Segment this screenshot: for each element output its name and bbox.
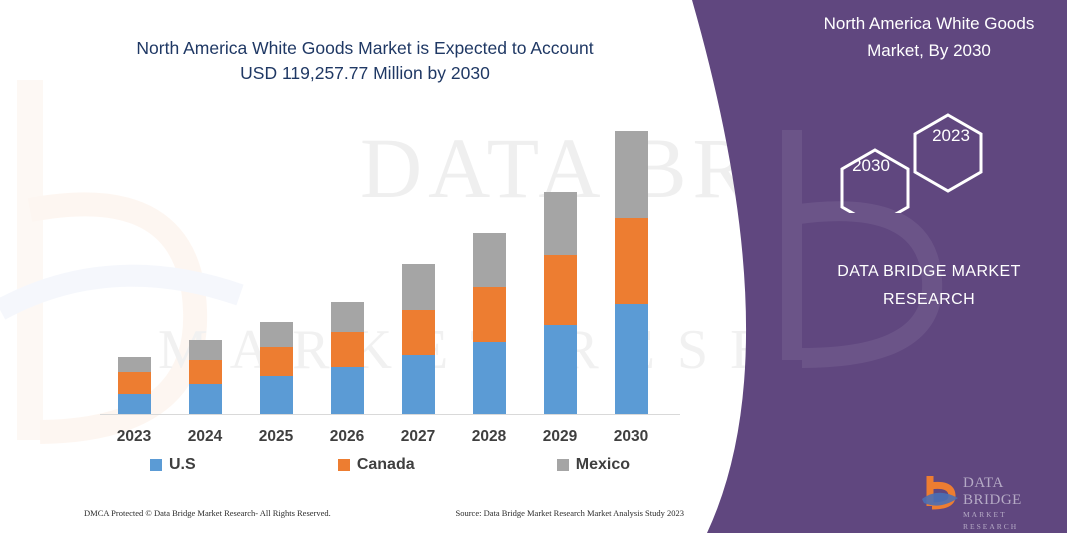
bar-2030 <box>615 131 648 414</box>
bar-2028 <box>473 233 506 414</box>
footer: DMCA Protected © Data Bridge Market Rese… <box>84 508 684 518</box>
bar-segment-mexico-2028 <box>473 233 506 287</box>
x-axis-line <box>100 414 680 415</box>
bar-segment-canada-2024 <box>189 360 222 384</box>
bar-2027 <box>402 264 435 414</box>
bar-segment-mexico-2025 <box>260 322 293 347</box>
bar-segment-mexico-2030 <box>615 131 648 218</box>
bar-2025 <box>260 322 293 414</box>
x-axis-tick-2025: 2025 <box>246 428 306 446</box>
x-axis-tick-2023: 2023 <box>104 428 164 446</box>
x-axis-tick-2027: 2027 <box>388 428 448 446</box>
x-axis-labels: 20232024202520262027202820292030 <box>100 428 680 454</box>
bar-segment-us-2029 <box>544 325 577 414</box>
legend-item-mexico: Mexico <box>557 456 630 474</box>
x-axis-tick-2030: 2030 <box>601 428 661 446</box>
bar-segment-mexico-2026 <box>331 302 364 332</box>
bar-2024 <box>189 340 222 414</box>
chart-title: North America White Goods Market is Expe… <box>60 36 670 86</box>
dbmr-logo-mark-icon <box>918 473 962 513</box>
dbmr-logo-text: DATA BRIDGE MARKET RESEARCH <box>963 475 1058 533</box>
bar-segment-us-2026 <box>331 367 364 414</box>
legend-swatch-icon <box>150 459 162 471</box>
bar-segment-canada-2030 <box>615 218 648 304</box>
dbmr-logo-line-2: MARKET RESEARCH <box>963 509 1058 533</box>
bar-2023 <box>118 357 151 414</box>
bar-segment-canada-2023 <box>118 372 151 394</box>
x-axis-tick-2024: 2024 <box>175 428 235 446</box>
footer-source: Source: Data Bridge Market Research Mark… <box>455 508 684 518</box>
brand-line-1: DATA BRIDGE MARKET <box>800 258 1058 286</box>
legend-item-canada: Canada <box>338 456 415 474</box>
legend-label: U.S <box>169 456 196 474</box>
footer-copyright: DMCA Protected © Data Bridge Market Rese… <box>84 508 331 518</box>
dbmr-logo: DATA BRIDGE MARKET RESEARCH <box>918 473 1058 517</box>
bar-segment-canada-2028 <box>473 287 506 342</box>
bar-segment-us-2025 <box>260 376 293 414</box>
x-axis-tick-2028: 2028 <box>459 428 519 446</box>
side-panel-brand: DATA BRIDGE MARKET RESEARCH <box>800 258 1058 314</box>
bar-segment-mexico-2027 <box>402 264 435 310</box>
bar-2026 <box>331 302 364 414</box>
legend-swatch-icon <box>338 459 350 471</box>
bar-segment-canada-2026 <box>331 332 364 367</box>
hexagon-label-2030: 2030 <box>836 156 906 176</box>
bar-segment-us-2028 <box>473 342 506 414</box>
bar-segment-canada-2027 <box>402 310 435 355</box>
chart-title-line-2: USD 119,257.77 Million by 2030 <box>60 61 670 86</box>
infographic-canvas: DATA BRIDGE MARKET RESEARCH North Americ… <box>0 0 1067 533</box>
brand-line-2: RESEARCH <box>800 286 1058 314</box>
bar-segment-us-2023 <box>118 394 151 414</box>
x-axis-tick-2026: 2026 <box>317 428 377 446</box>
hexagon-group: 2030 2023 <box>820 98 1020 213</box>
side-panel-title-line-1: North America White Goods <box>798 10 1060 37</box>
bar-segment-canada-2025 <box>260 347 293 376</box>
side-panel-title-line-2: Market, By 2030 <box>798 37 1060 64</box>
chart-legend: U.SCanadaMexico <box>150 456 630 474</box>
x-axis-tick-2029: 2029 <box>530 428 590 446</box>
bar-segment-us-2024 <box>189 384 222 414</box>
chart-plot-area <box>100 130 680 415</box>
legend-item-us: U.S <box>150 456 196 474</box>
bar-2029 <box>544 192 577 414</box>
legend-swatch-icon <box>557 459 569 471</box>
bar-segment-us-2027 <box>402 355 435 414</box>
legend-label: Mexico <box>576 456 630 474</box>
chart-title-line-1: North America White Goods Market is Expe… <box>60 36 670 61</box>
bar-segment-mexico-2029 <box>544 192 577 255</box>
dbmr-logo-line-1: DATA BRIDGE <box>963 475 1058 509</box>
bar-segment-us-2030 <box>615 304 648 414</box>
side-panel-title: North America White Goods Market, By 203… <box>798 10 1060 64</box>
bar-segment-canada-2029 <box>544 255 577 325</box>
bar-segment-mexico-2024 <box>189 340 222 360</box>
bar-segment-mexico-2023 <box>118 357 151 372</box>
legend-label: Canada <box>357 456 415 474</box>
hexagon-label-2023: 2023 <box>916 126 986 146</box>
